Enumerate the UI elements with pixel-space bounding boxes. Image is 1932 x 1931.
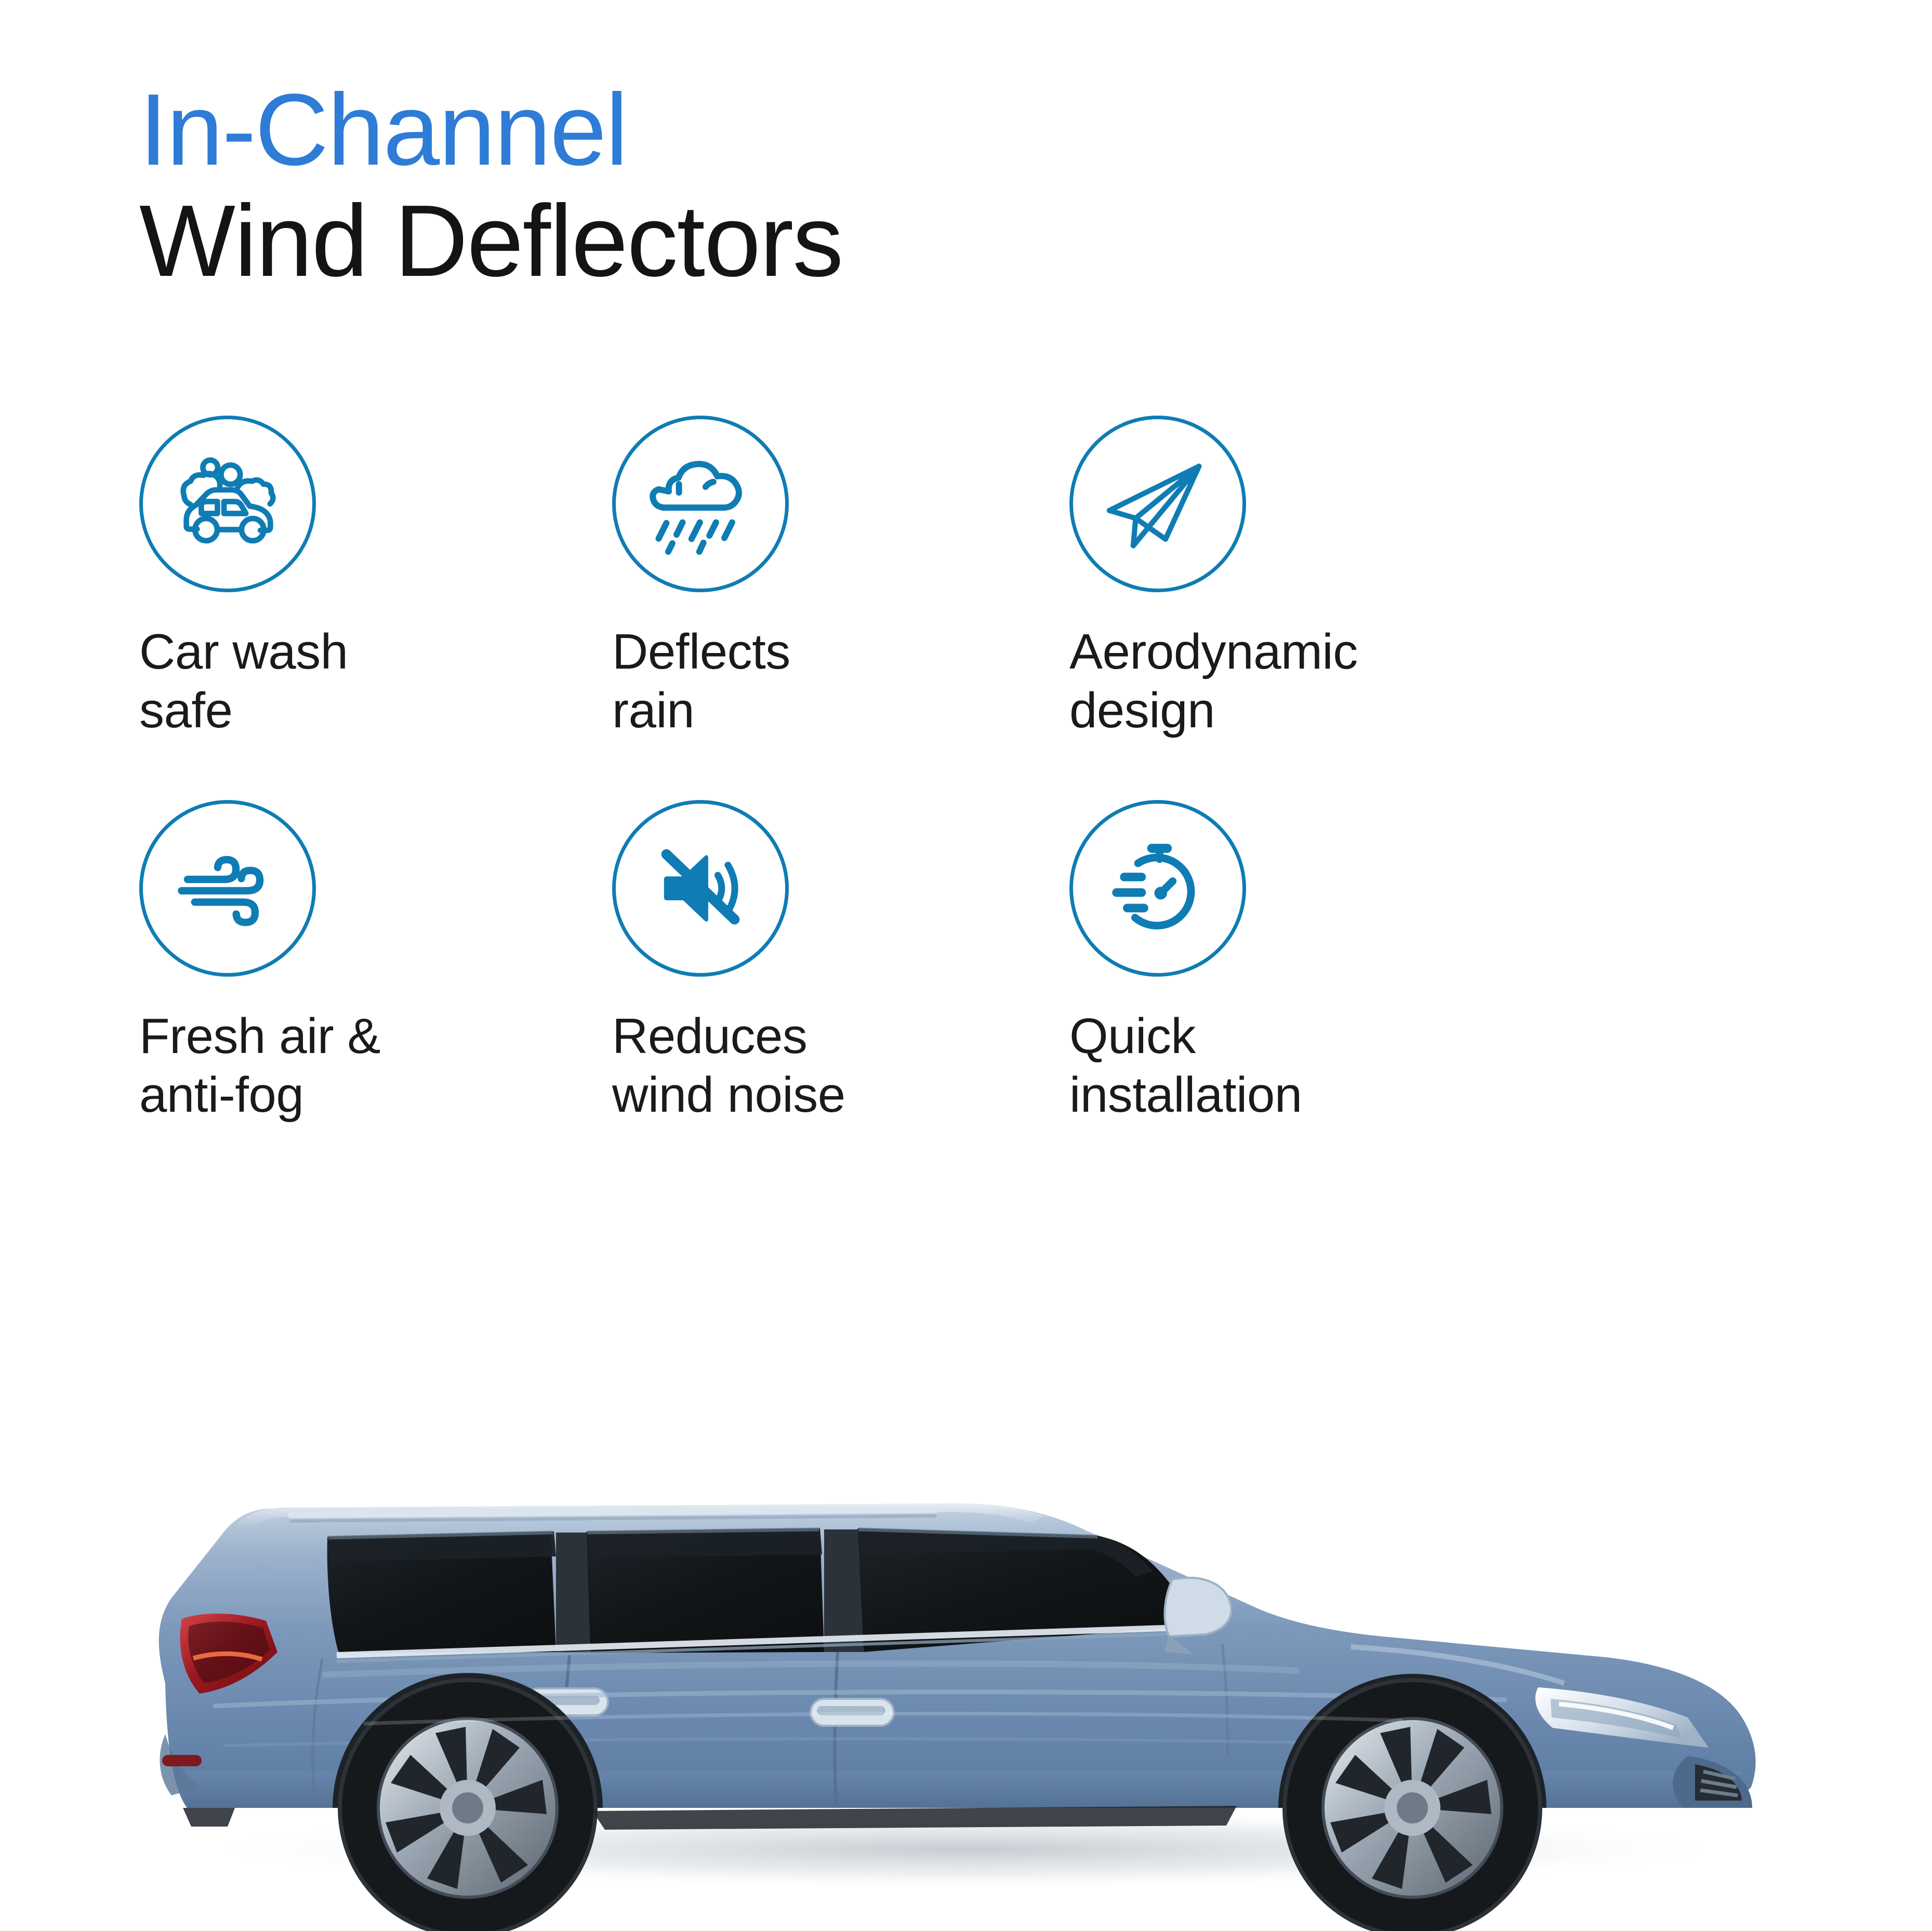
feature-grid: Car wash safe — [139, 416, 1470, 1184]
feature-quick-installation: Quick installation — [1069, 800, 1470, 1184]
rain-cloud-icon — [612, 416, 789, 592]
page-title: In-Channel Wind Deflectors — [139, 78, 1490, 295]
feature-car-wash-safe: Car wash safe — [139, 416, 612, 800]
feature-label-car-wash-safe: Car wash safe — [139, 622, 612, 740]
feature-label-deflects-rain: Deflects rain — [612, 622, 1069, 740]
feature-deflects-rain: Deflects rain — [612, 416, 1069, 800]
feature-aerodynamic-design: Aerodynamic design — [1069, 416, 1470, 800]
feature-label-quick-installation: Quick installation — [1069, 1007, 1470, 1125]
feature-reduces-wind-noise: Reduces wind noise — [612, 800, 1069, 1184]
product-photo: edge VISORS edge VISORS HYBRID — [0, 1288, 1932, 1931]
wind-icon — [139, 800, 316, 977]
car-wash-icon — [139, 416, 316, 592]
feature-label-aerodynamic-design: Aerodynamic design — [1069, 622, 1470, 740]
headline-main-line: Wind Deflectors — [139, 187, 1490, 295]
car-illustration — [0, 1288, 1932, 1931]
headline-accent-line: In-Channel — [139, 78, 1490, 182]
stopwatch-icon — [1069, 800, 1246, 977]
paper-plane-icon — [1069, 416, 1246, 592]
feature-fresh-air-anti-fog: Fresh air & anti-fog — [139, 800, 612, 1184]
speaker-mute-icon — [612, 800, 789, 977]
feature-label-fresh-air-anti-fog: Fresh air & anti-fog — [139, 1007, 612, 1125]
infographic-page: In-Channel Wind Deflectors — [0, 0, 1932, 1931]
feature-label-reduces-wind-noise: Reduces wind noise — [612, 1007, 1069, 1125]
